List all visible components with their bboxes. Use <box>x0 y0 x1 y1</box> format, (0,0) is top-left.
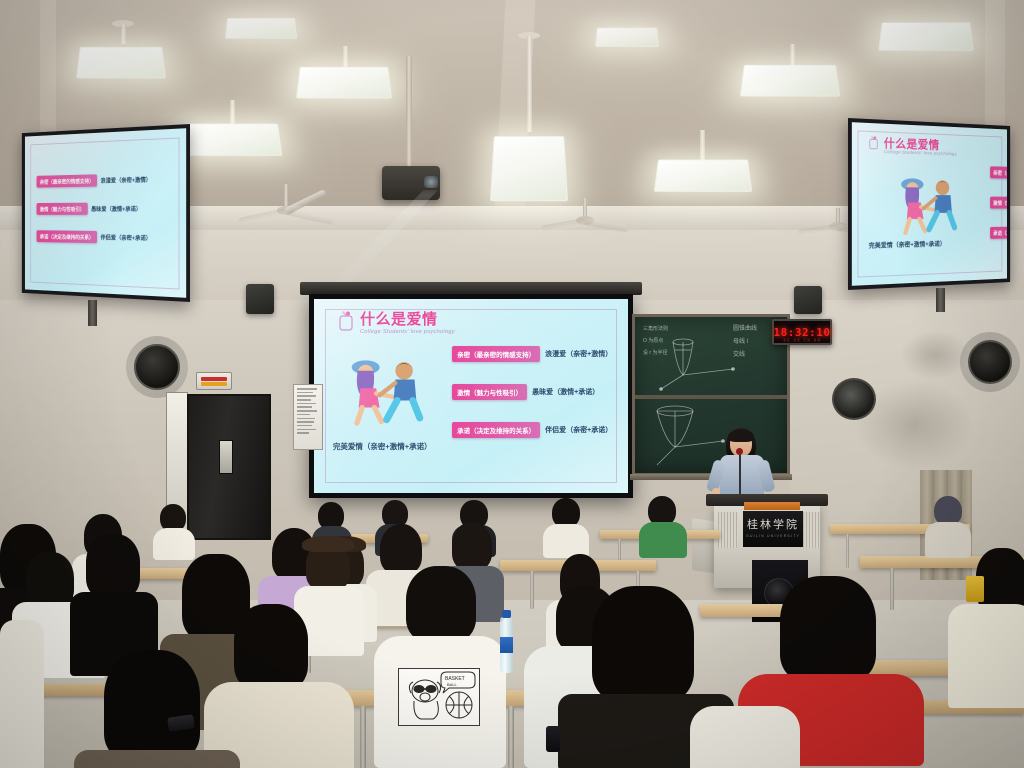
slide-row-text: 愚昧爱（激情+承诺） <box>91 204 141 213</box>
exit-sign-bar <box>201 377 227 381</box>
projector-arm <box>406 56 412 168</box>
wall-speaker-right <box>794 286 822 314</box>
slide-title: 什么是爱情 <box>884 137 957 151</box>
slide-row-tag: 激情（魅力与性吸引） <box>37 203 88 215</box>
wall-notice-board <box>293 384 323 450</box>
clock-time: 18:32:10 <box>774 326 831 339</box>
slide-row: 激情（魅力与性吸引） 愚昧爱（激情+承诺） <box>452 384 612 400</box>
couple-illustration <box>336 353 432 432</box>
side-display-right[interactable]: 什么是爱情 College Students' love psychology <box>848 118 1010 290</box>
light-stem <box>230 100 235 126</box>
desk-leg <box>530 571 534 609</box>
slide-row-tag: 承诺（决定及维持的关系） <box>452 422 540 438</box>
wall-horn-speaker <box>832 378 876 420</box>
light-stem <box>121 24 126 44</box>
slide-caption: 完美爱情（亲密+激情+承诺） <box>869 238 946 249</box>
slide-subtitle: College Students' love psychology <box>360 330 455 336</box>
screen-mount-left <box>88 300 97 326</box>
slide-header-right: 什么是爱情 College Students' love psychology <box>867 136 957 158</box>
teacher-hair-front <box>728 430 754 442</box>
ceiling-fan-2 <box>540 198 630 234</box>
bottle-cap <box>502 610 511 618</box>
slide-row-tag: 亲密（最亲密的情感支持） <box>990 166 1007 179</box>
water-bottle <box>500 617 513 673</box>
projector-lens <box>424 176 438 188</box>
ceiling-light-2 <box>182 124 283 156</box>
ceiling-light-3 <box>296 67 392 99</box>
slide-rows-left: 亲密（最亲密的情感支持） 浪漫爱（亲密+激情） 激情（魅力与性吸引） 愚昧爱（激… <box>37 173 152 244</box>
university-nameplate: 桂林学院 GUILIN UNIVERSITY <box>743 511 803 547</box>
tshirt-comic-print: BASKET BALL <box>398 668 480 726</box>
classroom-photo: 亲密（最亲密的情感支持） 浪漫爱（亲密+激情） 激情（魅力与性吸引） 愚昧爱（激… <box>0 0 1024 768</box>
exit-sign-bar <box>201 382 227 386</box>
slide-row-tag: 激情（魅力与性吸引） <box>452 384 527 400</box>
main-projection-screen[interactable]: 什么是爱情 College Students' love psychology <box>309 294 633 498</box>
ceiling-light-5 <box>654 160 752 192</box>
slide-header: 什么是爱情 College Students' love psychology <box>336 311 455 338</box>
microphone-stand <box>739 452 741 498</box>
university-name-en: GUILIN UNIVERSITY <box>746 534 800 538</box>
slide-row-tag: 亲密（最亲密的情感支持） <box>37 175 98 188</box>
ceiling-light-8 <box>225 18 297 39</box>
classroom-door[interactable] <box>187 394 271 540</box>
slide-row-text: 浪漫爱（亲密+激情） <box>545 349 612 359</box>
desk-leg <box>360 706 366 768</box>
microphone <box>736 448 743 455</box>
ceiling-light-7 <box>878 22 974 50</box>
desk-leg <box>508 706 514 768</box>
blackboard: 三角形法则 O 为原点 设 r 为半径 圆锥曲线 母线 l 交线 <box>632 314 790 476</box>
slide-row-text: 浪漫爱（亲密+激情） <box>101 175 152 185</box>
digital-wall-clock: 18:32:10 温度 湿度 日期 星期 <box>772 319 832 345</box>
presentation-slide: 什么是爱情 College Students' love psychology <box>314 299 628 493</box>
door-window <box>219 440 233 474</box>
slide-row: 承诺（决定及维持的关系） 伴侣爱（亲密+承诺） <box>452 422 612 438</box>
desk-leg <box>890 568 894 610</box>
ceiling-fan-1 <box>238 184 334 224</box>
svg-text:BALL: BALL <box>447 682 458 687</box>
apple-heart-icon <box>867 136 880 156</box>
bottle-label <box>500 637 513 653</box>
juice-carton <box>966 576 984 602</box>
lectern-grill-left <box>718 512 738 548</box>
ceiling-light-9 <box>595 28 659 47</box>
slide-row-tag: 激情（魅力与性吸引） <box>990 197 1007 209</box>
couple-illustration <box>889 172 964 241</box>
clock-sub-label: 温度 湿度 日期 星期 <box>774 338 830 342</box>
slide-row: 亲密（最亲密的情感支持） 浪漫爱（亲密+激情） <box>452 346 612 362</box>
wall-stain <box>900 330 970 380</box>
light-stem <box>527 36 532 132</box>
slide-row: 激情（魅力与性吸引） <box>990 197 1007 209</box>
slide-row-text: 愚昧爱（激情+承诺） <box>532 387 599 397</box>
slide-rows-right: 亲密（最亲密的情感支持） 激情（魅力与性吸引） 承诺（决定及维持的关系） <box>990 166 1007 239</box>
slide-row-text: 伴侣爱（亲密+承诺） <box>101 233 152 242</box>
ceiling-light-6 <box>740 65 840 97</box>
emergency-exit-sign <box>196 372 232 390</box>
slide-row-tag: 亲密（最亲密的情感支持） <box>452 346 540 362</box>
slide-row: 承诺（决定及维持的关系） 伴侣爱（亲密+承诺） <box>37 230 152 244</box>
desk-leg <box>846 534 849 568</box>
university-name-cn: 桂林学院 <box>747 520 799 531</box>
screen-mount-right <box>936 288 945 312</box>
ceiling-light-1 <box>76 47 166 79</box>
wall-fan <box>134 344 180 390</box>
apple-heart-icon <box>336 311 356 338</box>
slide-title: 什么是爱情 <box>360 312 455 327</box>
ceiling-light-4 <box>490 136 568 201</box>
slide-row: 亲密（最亲密的情感支持） 浪漫爱（亲密+激情） <box>37 173 152 188</box>
baseball-cap <box>302 536 354 552</box>
slide-rows: 亲密（最亲密的情感支持） 浪漫爱（亲密+激情） 激情（魅力与性吸引） 愚昧爱（激… <box>452 346 612 438</box>
slide-row-tag: 承诺（决定及维持的关系） <box>990 226 1007 239</box>
lectern-wood-trim <box>744 502 800 510</box>
slide-row: 承诺（决定及维持的关系） <box>990 226 1007 239</box>
side-display-left[interactable]: 亲密（最亲密的情感支持） 浪漫爱（亲密+激情） 激情（魅力与性吸引） 愚昧爱（激… <box>22 124 190 302</box>
wall-fan <box>968 340 1012 384</box>
slide-row: 亲密（最亲密的情感支持） <box>990 166 1007 179</box>
slide-row: 激情（魅力与性吸引） 愚昧爱（激情+承诺） <box>37 202 152 215</box>
slide-row-tag: 承诺（决定及维持的关系） <box>37 230 98 243</box>
chalk-diagram <box>635 317 793 479</box>
lectern-grill-right <box>800 512 820 548</box>
slide-caption: 完美爱情（亲密+激情+承诺） <box>333 441 432 452</box>
mobile-phone[interactable] <box>546 726 560 752</box>
wall-speaker-left <box>246 284 274 314</box>
slide-row-text: 伴侣爱（亲密+承诺） <box>545 425 612 435</box>
